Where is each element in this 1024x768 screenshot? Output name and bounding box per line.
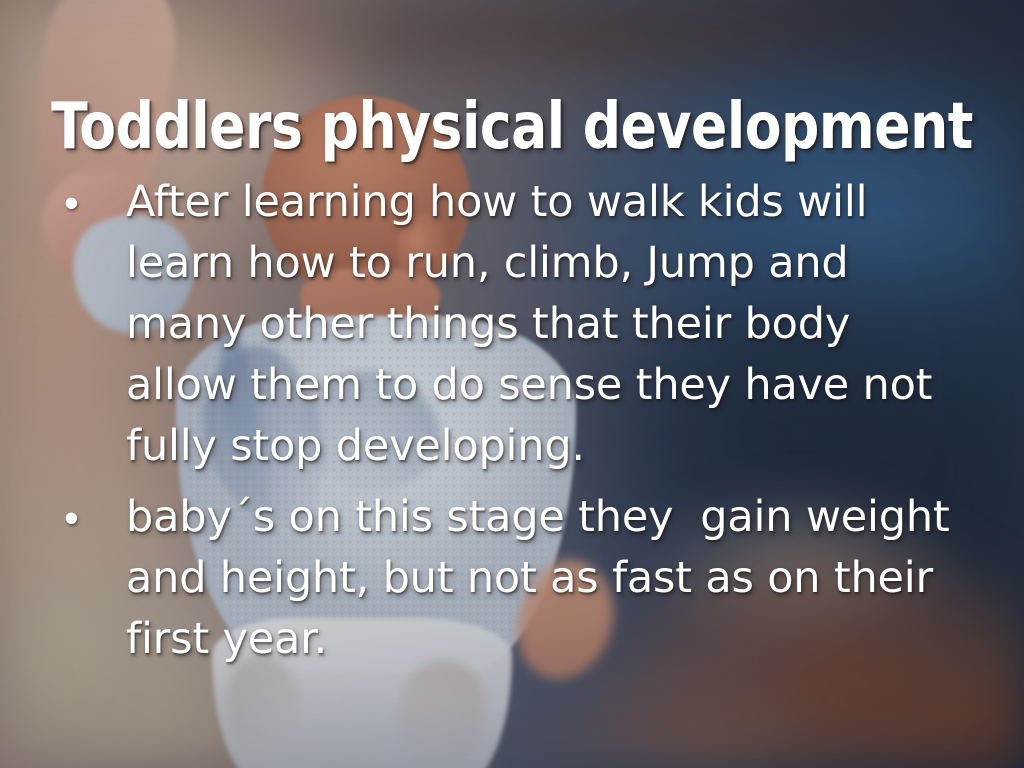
bullet-list: • After learning how to walk kids will l… xyxy=(58,172,954,680)
list-item: • baby´s on this stage they gain weight … xyxy=(58,487,954,670)
presentation-slide: Toddlers physical development • After le… xyxy=(0,0,1024,768)
bullet-point-icon: • xyxy=(58,172,126,233)
bullet-point-icon: • xyxy=(58,487,126,548)
page-title: Toddlers physical development xyxy=(36,95,988,159)
list-item: • After learning how to walk kids will l… xyxy=(58,172,954,477)
slide-content: Toddlers physical development • After le… xyxy=(0,0,1024,768)
bullet-text-second: baby´s on this stage they gain weight an… xyxy=(126,487,954,670)
bullet-text-first: After learning how to walk kids will lea… xyxy=(126,172,954,477)
